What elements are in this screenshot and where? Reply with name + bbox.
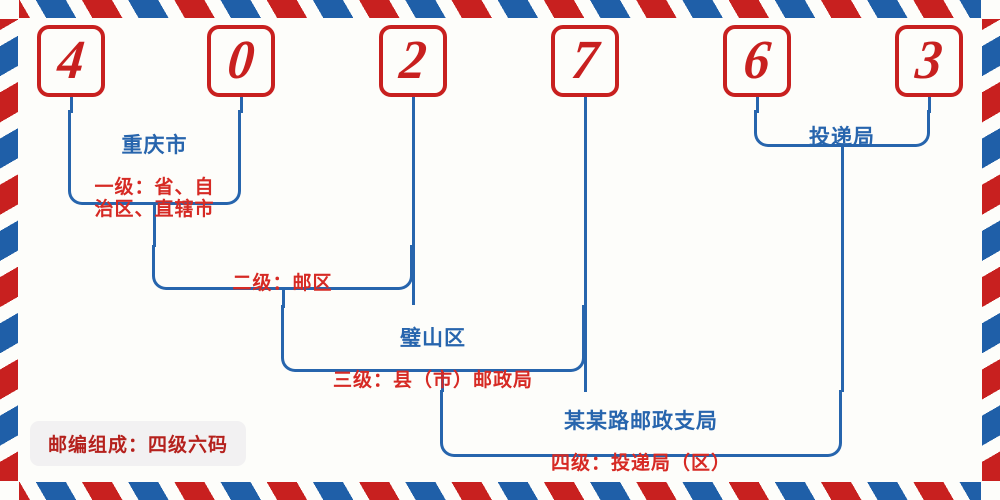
digit-card-2[interactable]: 0: [207, 25, 275, 97]
postcode-diagram: 4 0 2 7 6 3 重庆市 一级：省、自 治区、直辖市 二级：邮区 璧山区: [0, 0, 1000, 500]
label-level-3-subtitle: 三级：县（市）邮政局: [281, 370, 585, 392]
label-level-4: 某某路邮政支局 四级：投递局（区）: [440, 391, 842, 493]
digit-card-5[interactable]: 6: [723, 25, 791, 97]
digit-card-1[interactable]: 4: [37, 25, 105, 97]
digit-card-3[interactable]: 2: [379, 25, 447, 97]
stem-delivery-office-to-level-4: [841, 145, 844, 392]
label-level-2: 二级：邮区: [152, 255, 413, 314]
digit-value-3: 2: [397, 33, 429, 88]
digit-card-4[interactable]: 7: [551, 25, 619, 97]
label-delivery-office-title: 投递局: [754, 125, 930, 149]
label-level-4-title: 某某路邮政支局: [440, 409, 842, 433]
digit-value-4: 7: [569, 33, 601, 88]
label-level-1: 重庆市 一级：省、自 治区、直辖市: [68, 115, 241, 239]
label-level-1-title: 重庆市: [68, 133, 241, 157]
label-level-3-title: 璧山区: [281, 326, 585, 350]
corner-mask-bottom-left: [0, 481, 19, 500]
envelope-border-left: [0, 0, 18, 500]
envelope-border-top: [0, 0, 1000, 18]
caption-postcode-structure: 邮编组成：四级六码: [30, 421, 246, 466]
digit-value-1: 4: [55, 33, 87, 88]
label-level-4-subtitle: 四级：投递局（区）: [440, 453, 842, 475]
digit-value-5: 6: [741, 33, 773, 88]
label-level-1-subtitle: 一级：省、自 治区、直辖市: [68, 177, 241, 221]
label-delivery-office: 投递局: [754, 107, 930, 168]
corner-mask-top-left: [0, 0, 19, 19]
corner-mask-bottom-right: [981, 481, 1000, 500]
digit-value-6: 3: [913, 33, 945, 88]
digit-card-6[interactable]: 3: [895, 25, 963, 97]
envelope-border-bottom: [0, 482, 1000, 500]
label-level-2-subtitle: 二级：邮区: [152, 273, 413, 295]
envelope-border-right: [982, 0, 1000, 500]
corner-mask-top-right: [981, 0, 1000, 19]
digit-value-2: 0: [225, 33, 257, 88]
